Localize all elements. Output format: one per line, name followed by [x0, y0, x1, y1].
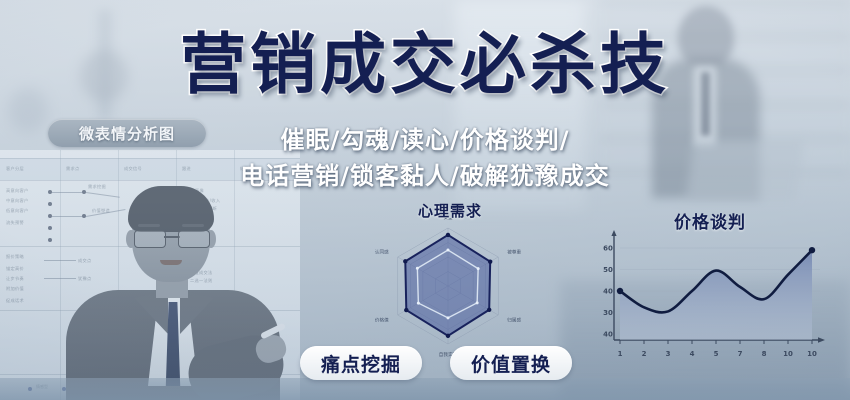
svg-text:安全: 安全 [443, 218, 453, 221]
micro-expression-badge-label: 微表情分析图 [79, 123, 175, 144]
svg-text:40: 40 [603, 288, 613, 296]
svg-text:10: 10 [783, 350, 793, 358]
svg-text:4: 4 [690, 350, 695, 358]
svg-text:30: 30 [603, 309, 613, 317]
bottom-strip [0, 378, 850, 400]
marketing-banner: 客户分层 需求点 成交信号 跟进 结果 高意向客户 中意向客户 低意向客户 流失… [0, 0, 850, 400]
svg-text:认同感: 认同感 [375, 248, 389, 255]
line-chart: 价格谈判 6050403040 12345781010 [580, 200, 840, 380]
radar-chart: 心理需求 安全被尊重归属感自我实现价格值认同感 [330, 200, 570, 365]
micro-expression-badge: 微表情分析图 [48, 119, 206, 147]
svg-text:2: 2 [642, 350, 647, 358]
svg-text:价格值: 价格值 [375, 317, 389, 324]
line-chart-svg: 6050403040 12345781010 [580, 228, 830, 373]
svg-text:5: 5 [714, 350, 719, 358]
svg-text:7: 7 [738, 350, 743, 358]
svg-text:被尊重: 被尊重 [507, 248, 521, 255]
line-chart-area [620, 250, 812, 340]
svg-text:10: 10 [807, 350, 817, 358]
svg-text:60: 60 [603, 245, 613, 253]
svg-text:50: 50 [603, 266, 613, 274]
tag-pain-point-label: 痛点挖掘 [321, 350, 401, 377]
line-chart-y-labels: 6050403040 [603, 245, 613, 339]
radar-chart-svg: 安全被尊重归属感自我实现价格值认同感 [348, 218, 548, 358]
svg-text:3: 3 [666, 350, 671, 358]
line-chart-x-labels: 12345781010 [618, 350, 817, 358]
tag-pain-point[interactable]: 痛点挖掘 [300, 346, 422, 380]
page-title: 营销成交必杀技 [0, 32, 850, 98]
x-axis-arrow [818, 337, 825, 343]
svg-text:40: 40 [603, 331, 613, 339]
presenter-photo [60, 190, 290, 400]
svg-text:归属感: 归属感 [507, 317, 521, 324]
subtitle-line-2: 电话营销/锁客黏人/破解犹豫成交 [0, 156, 850, 191]
svg-text:1: 1 [618, 350, 623, 358]
svg-text:8: 8 [762, 350, 767, 358]
glasses-icon [134, 230, 210, 246]
line-chart-start-point [617, 288, 623, 294]
line-chart-end-point [809, 247, 815, 253]
tag-value-exchange-label: 价值置换 [471, 350, 551, 377]
y-axis-arrow [611, 230, 616, 236]
tag-value-exchange[interactable]: 价值置换 [450, 346, 572, 380]
